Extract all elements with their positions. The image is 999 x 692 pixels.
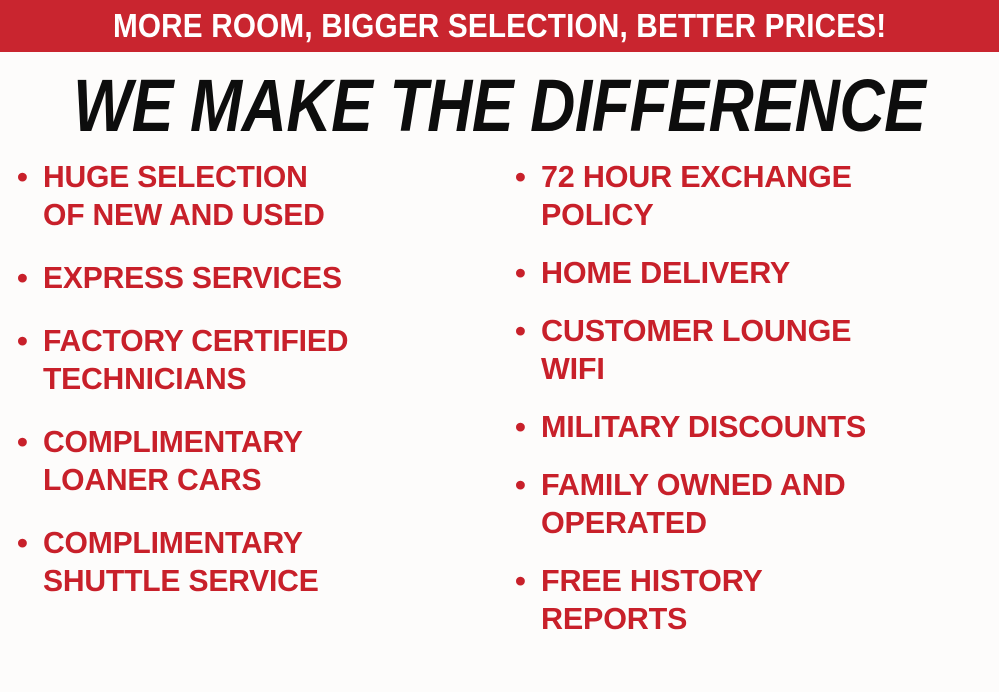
list-item-label: COMPLIMENTARY SHUTTLE SERVICE	[43, 524, 492, 600]
list-item: • MILITARY DISCOUNTS	[512, 408, 999, 446]
list-item-label: COMPLIMENTARY LOANER CARS	[43, 423, 492, 499]
bullet-dot-icon: •	[512, 408, 541, 446]
list-item: • FAMILY OWNED AND OPERATED	[512, 466, 999, 542]
list-item: • COMPLIMENTARY LOANER CARS	[14, 423, 506, 499]
bullet-dot-icon: •	[14, 259, 43, 297]
bullet-dot-icon: •	[512, 254, 541, 292]
list-item-label: FAMILY OWNED AND OPERATED	[541, 466, 992, 542]
list-item: • FACTORY CERTIFIED TECHNICIANS	[14, 322, 506, 398]
list-item: • 72 HOUR EXCHANGE POLICY	[512, 158, 999, 234]
list-item: • EXPRESS SERVICES	[14, 259, 506, 297]
page-title: WE MAKE THE DIFFERENCE	[73, 69, 925, 143]
bullet-dot-icon: •	[512, 312, 541, 350]
benefits-columns: • HUGE SELECTION OF NEW AND USED • EXPRE…	[0, 158, 999, 692]
bullet-dot-icon: •	[14, 158, 43, 196]
list-item: • COMPLIMENTARY SHUTTLE SERVICE	[14, 524, 506, 600]
list-item: • HOME DELIVERY	[512, 254, 999, 292]
benefits-column-left: • HUGE SELECTION OF NEW AND USED • EXPRE…	[14, 158, 506, 625]
list-item-label: MILITARY DISCOUNTS	[541, 408, 992, 446]
bullet-dot-icon: •	[512, 466, 541, 504]
promo-poster: MORE ROOM, BIGGER SELECTION, BETTER PRIC…	[0, 0, 999, 692]
headline-container: WE MAKE THE DIFFERENCE	[0, 64, 999, 148]
bullet-dot-icon: •	[14, 524, 43, 562]
list-item-label: 72 HOUR EXCHANGE POLICY	[541, 158, 992, 234]
list-item-label: CUSTOMER LOUNGE WIFI	[541, 312, 992, 388]
list-item: • HUGE SELECTION OF NEW AND USED	[14, 158, 506, 234]
list-item: • FREE HISTORY REPORTS	[512, 562, 999, 638]
bullet-dot-icon: •	[14, 423, 43, 461]
list-item-label: FREE HISTORY REPORTS	[541, 562, 992, 638]
bullet-dot-icon: •	[512, 562, 541, 600]
top-banner: MORE ROOM, BIGGER SELECTION, BETTER PRIC…	[0, 0, 999, 52]
list-item: • CUSTOMER LOUNGE WIFI	[512, 312, 999, 388]
list-item-label: HUGE SELECTION OF NEW AND USED	[43, 158, 492, 234]
benefits-column-right: • 72 HOUR EXCHANGE POLICY • HOME DELIVER…	[512, 158, 999, 658]
list-item-label: EXPRESS SERVICES	[43, 259, 492, 297]
list-item-label: HOME DELIVERY	[541, 254, 992, 292]
bullet-dot-icon: •	[14, 322, 43, 360]
list-item-label: FACTORY CERTIFIED TECHNICIANS	[43, 322, 492, 398]
banner-headline-text: MORE ROOM, BIGGER SELECTION, BETTER PRIC…	[113, 9, 886, 43]
bullet-dot-icon: •	[512, 158, 541, 196]
